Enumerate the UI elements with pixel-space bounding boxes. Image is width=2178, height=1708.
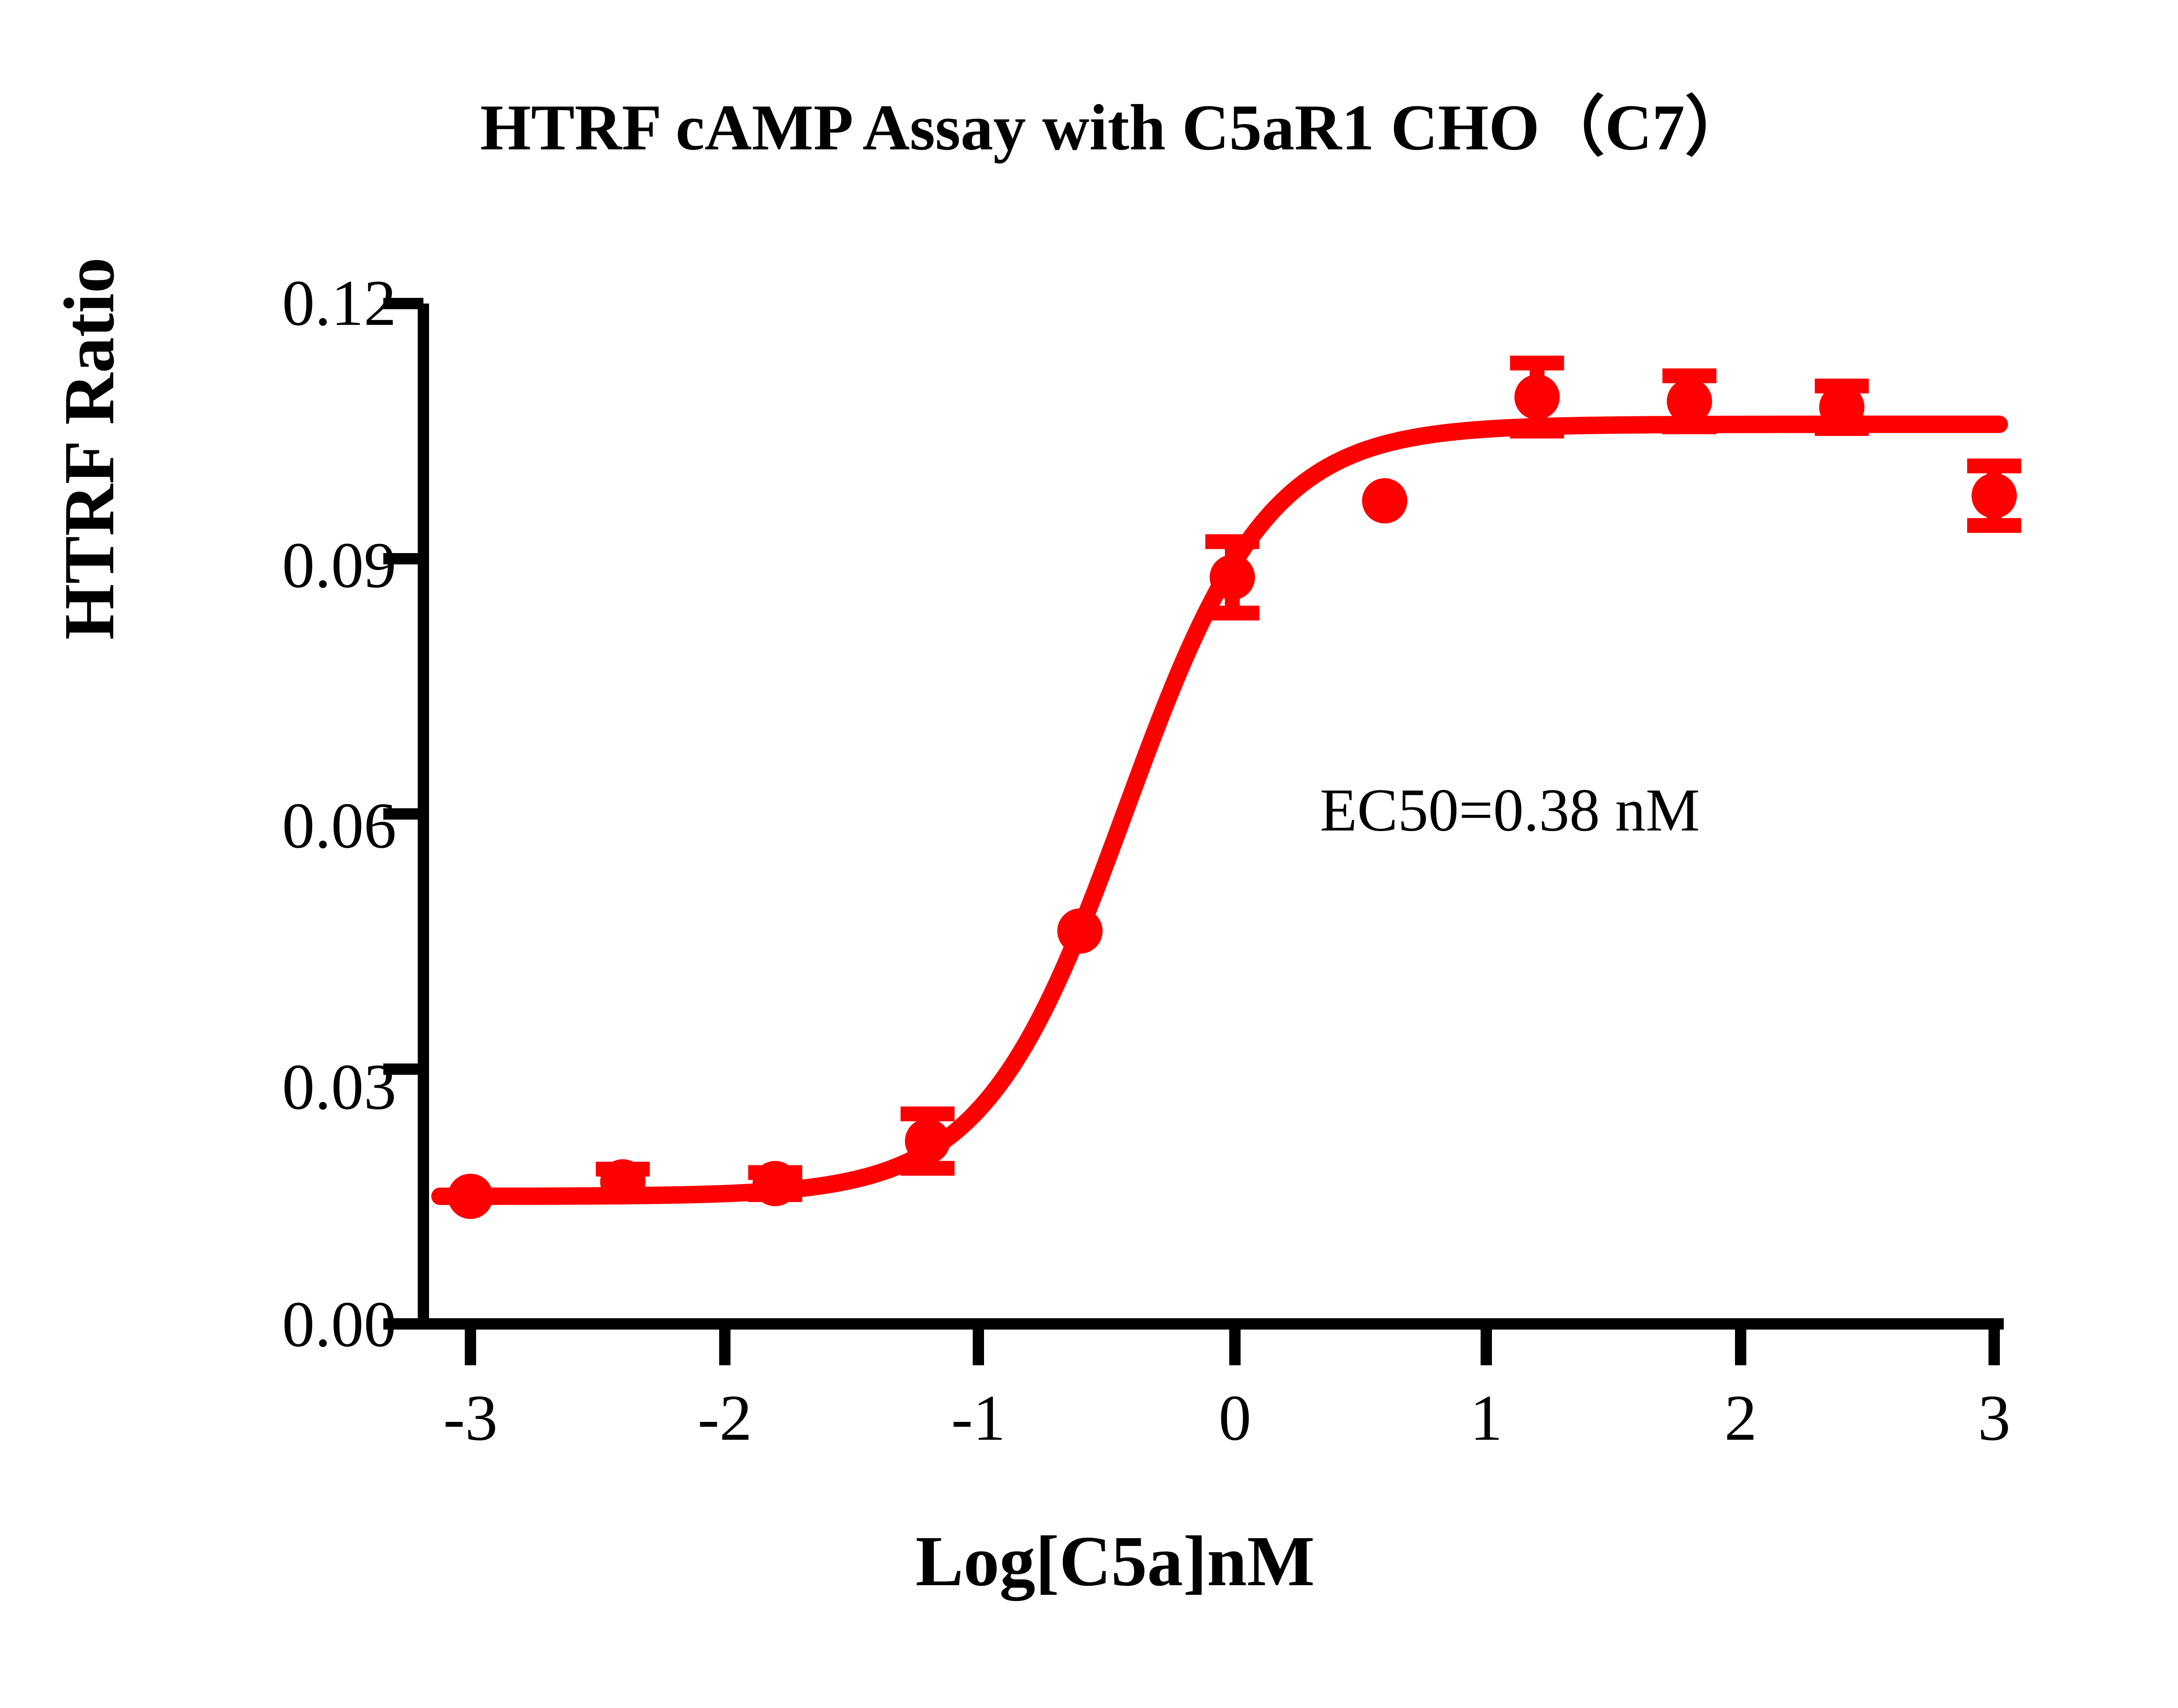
error-bar: [1967, 466, 2021, 526]
error-bar: [1662, 376, 1716, 427]
x-tick-label-3: 3: [1929, 1381, 2060, 1455]
data-point-marker: [1515, 375, 1560, 420]
data-point-marker: [1362, 478, 1407, 523]
error-bar: [1815, 386, 1869, 429]
error-bars-group: [596, 363, 2021, 1195]
data-point-marker: [753, 1161, 798, 1206]
x-tick-label-1: 1: [1421, 1381, 1552, 1455]
error-bar: [1510, 363, 1564, 431]
x-tick-label-2: 2: [1675, 1381, 1806, 1455]
error-bar: [596, 1169, 650, 1195]
data-point-marker: [1210, 555, 1255, 600]
chart-figure: HTRF cAMP Assay with C5aR1 CHO（C7） HTRF …: [0, 0, 2178, 1708]
axis-lines: [418, 304, 2004, 1329]
data-point-marker: [905, 1118, 950, 1164]
y-axis-title: HTRF Ratio: [35, 165, 144, 732]
ec50-annotation: EC50=0.38 nM: [1320, 775, 1700, 845]
data-point-marker: [600, 1159, 646, 1205]
y-tick-label-0.03: 0.03: [135, 1050, 396, 1124]
error-bar: [1205, 542, 1259, 613]
y-tick-label-0.12: 0.12: [135, 266, 396, 341]
y-tick-label-0.06: 0.06: [135, 788, 396, 863]
data-point-marker: [1667, 379, 1712, 424]
error-bar: [748, 1172, 802, 1195]
chart-title: HTRF cAMP Assay with C5aR1 CHO（C7）: [0, 74, 2178, 169]
x-tick-label--1: -1: [913, 1381, 1044, 1455]
x-tick-label-0: 0: [1170, 1381, 1300, 1455]
x-tick-label--2: -2: [659, 1381, 790, 1455]
data-point-marker: [1972, 473, 2017, 518]
data-markers-group: [448, 375, 2017, 1219]
data-point-marker: [448, 1174, 493, 1219]
y-tick-label-0.09: 0.09: [135, 528, 396, 603]
x-axis-title: Log[C5a]nM: [0, 1520, 2178, 1603]
x-axis-ticks: [470, 1324, 1994, 1365]
fit-curve-group: [440, 424, 1999, 1196]
fit-curve: [440, 424, 1999, 1196]
data-point-marker: [1057, 908, 1103, 954]
error-bar: [900, 1114, 954, 1168]
y-tick-label-0.00: 0.00: [135, 1287, 396, 1362]
x-tick-label--3: -3: [405, 1381, 536, 1455]
data-point-marker: [1819, 385, 1864, 430]
